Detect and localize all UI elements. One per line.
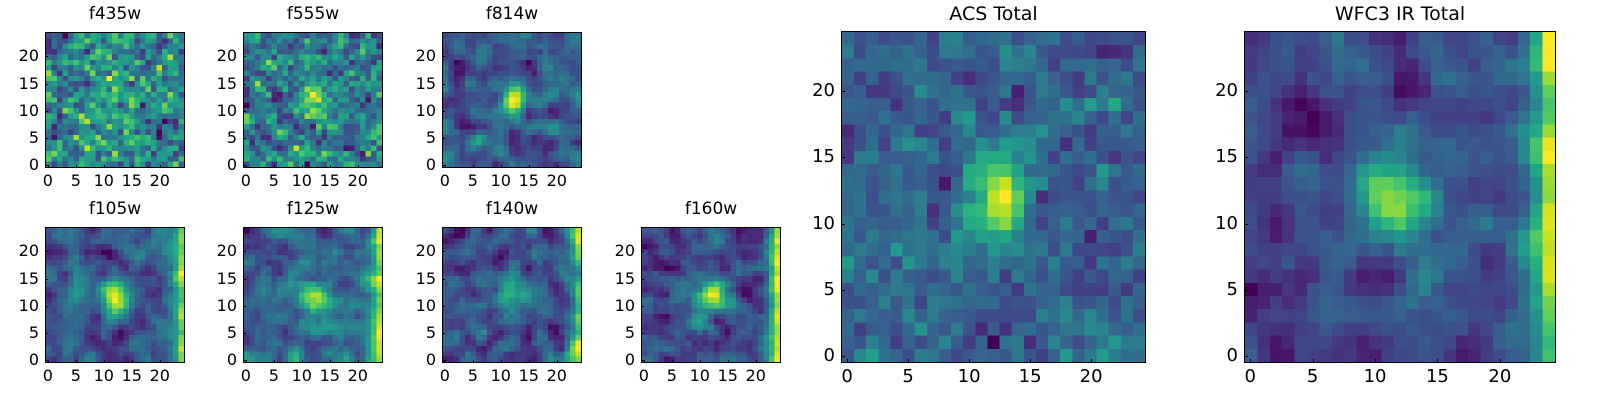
y-tick: [442, 360, 445, 361]
y-tick: [243, 333, 246, 334]
y-tick-label: 15: [812, 148, 835, 166]
x-tick: [501, 165, 502, 168]
x-tick: [501, 360, 502, 363]
y-tick: [45, 84, 48, 85]
panel-f105w: f105w0510152005101520: [45, 227, 185, 363]
x-tick: [274, 165, 275, 168]
x-tick: [847, 359, 848, 363]
x-tick-label: 10: [94, 173, 114, 189]
heatmap-canvas-f140w: [443, 228, 581, 362]
y-tick-label: 5: [625, 325, 635, 341]
x-tick-label: 20: [1488, 368, 1511, 386]
panel-f160w: f160w0510152005101520: [641, 227, 781, 363]
heatmap-canvas-f160w: [642, 228, 780, 362]
x-tick: [160, 165, 161, 168]
x-tick: [132, 165, 133, 168]
y-tick-label: 20: [615, 243, 635, 259]
heatmap-wfc3_ir_total: [1244, 31, 1556, 363]
x-tick-label: 10: [491, 173, 511, 189]
x-tick: [1500, 359, 1501, 363]
x-tick: [302, 360, 303, 363]
y-tick: [1244, 356, 1248, 357]
y-tick: [45, 165, 48, 166]
x-tick-label: 20: [348, 173, 368, 189]
y-tick-label: 0: [426, 352, 436, 368]
y-tick: [841, 91, 845, 92]
heatmap-canvas-wfc3_ir_total: [1245, 32, 1555, 362]
y-tick: [45, 360, 48, 361]
panel-f555w: f555w0510152005101520: [243, 32, 383, 168]
heatmap-f555w: [243, 32, 383, 168]
y-tick: [641, 360, 644, 361]
panel-title-f105w: f105w: [89, 199, 141, 219]
y-tick-label: 15: [19, 76, 39, 92]
y-tick: [841, 356, 845, 357]
y-tick-label: 15: [615, 271, 635, 287]
x-tick: [132, 360, 133, 363]
x-tick-label: 5: [71, 173, 81, 189]
y-tick-label: 5: [1227, 281, 1238, 299]
x-tick-label: 15: [1426, 368, 1449, 386]
y-tick-label: 10: [1215, 215, 1238, 233]
y-tick-label: 15: [217, 271, 237, 287]
x-tick: [160, 360, 161, 363]
panel-title-f555w: f555w: [287, 4, 339, 24]
y-tick: [442, 56, 445, 57]
heatmap-canvas-f125w: [244, 228, 382, 362]
heatmap-canvas-f555w: [244, 33, 382, 167]
y-tick: [442, 279, 445, 280]
y-tick-label: 5: [824, 281, 835, 299]
y-tick-label: 15: [416, 271, 436, 287]
y-tick-label: 0: [1227, 347, 1238, 365]
y-tick: [243, 56, 246, 57]
panel-f125w: f125w0510152005101520: [243, 227, 383, 363]
y-tick: [1244, 91, 1248, 92]
y-tick-label: 5: [227, 130, 237, 146]
y-tick-label: 5: [426, 325, 436, 341]
y-tick-label: 20: [19, 48, 39, 64]
y-tick: [442, 165, 445, 166]
y-tick-label: 10: [812, 215, 835, 233]
x-tick: [1250, 359, 1251, 363]
y-tick: [442, 138, 445, 139]
x-tick: [529, 165, 530, 168]
y-tick: [442, 333, 445, 334]
x-tick-label: 10: [292, 368, 312, 384]
x-tick-label: 15: [320, 368, 340, 384]
x-tick-label: 15: [718, 368, 738, 384]
x-tick: [104, 165, 105, 168]
panel-title-f435w: f435w: [89, 4, 141, 24]
x-tick: [473, 165, 474, 168]
y-tick: [243, 251, 246, 252]
heatmap-f160w: [641, 227, 781, 363]
x-tick: [700, 360, 701, 363]
x-tick-label: 5: [269, 368, 279, 384]
x-tick-label: 20: [746, 368, 766, 384]
x-tick: [969, 359, 970, 363]
x-tick-label: 5: [468, 368, 478, 384]
y-tick: [45, 138, 48, 139]
x-tick: [557, 360, 558, 363]
y-tick: [243, 111, 246, 112]
y-tick: [1244, 157, 1248, 158]
panel-title-wfc3_ir_total: WFC3 IR Total: [1335, 3, 1465, 25]
y-tick-label: 10: [19, 298, 39, 314]
y-tick-label: 10: [416, 298, 436, 314]
x-tick: [908, 359, 909, 363]
x-tick: [672, 360, 673, 363]
y-tick-label: 5: [29, 130, 39, 146]
y-tick-label: 10: [615, 298, 635, 314]
y-tick: [841, 224, 845, 225]
x-tick: [756, 360, 757, 363]
panel-title-acs_total: ACS Total: [949, 3, 1037, 25]
y-tick: [243, 138, 246, 139]
y-tick-label: 0: [426, 157, 436, 173]
y-tick-label: 0: [227, 157, 237, 173]
y-tick-label: 20: [217, 243, 237, 259]
heatmap-acs_total: [841, 31, 1146, 363]
y-tick: [841, 290, 845, 291]
panel-acs_total: ACS Total0510152005101520: [841, 31, 1146, 363]
x-tick-label: 15: [122, 173, 142, 189]
x-tick-label: 15: [519, 368, 539, 384]
x-tick-label: 0: [440, 173, 450, 189]
y-tick-label: 20: [1215, 82, 1238, 100]
x-tick-label: 10: [1364, 368, 1387, 386]
x-tick: [728, 360, 729, 363]
x-tick-label: 0: [241, 368, 251, 384]
y-tick-label: 20: [812, 82, 835, 100]
x-tick: [76, 360, 77, 363]
x-tick: [1030, 359, 1031, 363]
panel-f140w: f140w0510152005101520: [442, 227, 582, 363]
x-tick: [358, 165, 359, 168]
y-tick-label: 0: [29, 352, 39, 368]
x-tick-label: 0: [1245, 368, 1256, 386]
y-tick: [442, 251, 445, 252]
x-tick-label: 0: [440, 368, 450, 384]
y-tick-label: 15: [19, 271, 39, 287]
y-tick-label: 15: [1215, 148, 1238, 166]
x-tick: [302, 165, 303, 168]
y-tick: [243, 165, 246, 166]
x-tick-label: 5: [468, 173, 478, 189]
y-tick-label: 15: [416, 76, 436, 92]
heatmap-f105w: [45, 227, 185, 363]
y-tick: [45, 333, 48, 334]
x-tick: [529, 360, 530, 363]
x-tick-label: 0: [241, 173, 251, 189]
x-tick-label: 10: [292, 173, 312, 189]
y-tick-label: 10: [217, 103, 237, 119]
heatmap-f814w: [442, 32, 582, 168]
panel-f435w: f435w0510152005101520: [45, 32, 185, 168]
x-tick: [330, 360, 331, 363]
y-tick: [841, 157, 845, 158]
x-tick-label: 5: [667, 368, 677, 384]
y-tick: [243, 84, 246, 85]
x-tick-label: 0: [43, 368, 53, 384]
y-tick: [243, 279, 246, 280]
x-tick-label: 10: [94, 368, 114, 384]
heatmap-canvas-f814w: [443, 33, 581, 167]
x-tick-label: 10: [690, 368, 710, 384]
x-tick-label: 10: [958, 368, 981, 386]
y-tick: [45, 306, 48, 307]
heatmap-canvas-f435w: [46, 33, 184, 167]
x-tick: [104, 360, 105, 363]
panel-title-f160w: f160w: [685, 199, 737, 219]
heatmap-canvas-acs_total: [842, 32, 1145, 362]
x-tick: [1091, 359, 1092, 363]
y-tick-label: 20: [416, 48, 436, 64]
y-tick: [45, 279, 48, 280]
y-tick-label: 0: [824, 347, 835, 365]
x-tick: [1375, 359, 1376, 363]
y-tick: [45, 56, 48, 57]
x-tick-label: 20: [547, 173, 567, 189]
y-tick-label: 10: [217, 298, 237, 314]
x-tick-label: 5: [902, 368, 913, 386]
panel-f814w: f814w0510152005101520: [442, 32, 582, 168]
y-tick: [641, 279, 644, 280]
x-tick-label: 5: [269, 173, 279, 189]
x-tick: [557, 165, 558, 168]
x-tick: [473, 360, 474, 363]
y-tick-label: 5: [426, 130, 436, 146]
y-tick-label: 0: [29, 157, 39, 173]
y-tick: [641, 306, 644, 307]
x-tick-label: 10: [491, 368, 511, 384]
y-tick: [243, 360, 246, 361]
y-tick: [1244, 224, 1248, 225]
heatmap-f125w: [243, 227, 383, 363]
figure-canvas: f435w0510152005101520f555w05101520051015…: [0, 0, 1600, 400]
y-tick-label: 20: [217, 48, 237, 64]
x-tick-label: 20: [150, 173, 170, 189]
x-tick-label: 0: [639, 368, 649, 384]
x-tick: [274, 360, 275, 363]
x-tick-label: 20: [348, 368, 368, 384]
y-tick: [45, 251, 48, 252]
y-tick: [641, 251, 644, 252]
y-tick: [1244, 290, 1248, 291]
y-tick: [641, 333, 644, 334]
y-tick-label: 10: [416, 103, 436, 119]
panel-title-f814w: f814w: [486, 4, 538, 24]
x-tick-label: 5: [1307, 368, 1318, 386]
x-tick-label: 20: [1080, 368, 1103, 386]
y-tick: [442, 306, 445, 307]
heatmap-f140w: [442, 227, 582, 363]
y-tick-label: 10: [19, 103, 39, 119]
x-tick: [358, 360, 359, 363]
y-tick: [243, 306, 246, 307]
x-tick: [330, 165, 331, 168]
x-tick-label: 0: [43, 173, 53, 189]
y-tick: [442, 111, 445, 112]
y-tick-label: 5: [227, 325, 237, 341]
y-tick: [45, 111, 48, 112]
x-tick-label: 20: [150, 368, 170, 384]
y-tick-label: 15: [217, 76, 237, 92]
panel-wfc3_ir_total: WFC3 IR Total0510152005101520: [1244, 31, 1556, 363]
x-tick: [76, 165, 77, 168]
x-tick-label: 15: [1019, 368, 1042, 386]
y-tick-label: 5: [29, 325, 39, 341]
y-tick-label: 20: [19, 243, 39, 259]
x-tick-label: 5: [71, 368, 81, 384]
heatmap-f435w: [45, 32, 185, 168]
y-tick-label: 20: [416, 243, 436, 259]
panel-title-f125w: f125w: [287, 199, 339, 219]
x-tick-label: 0: [841, 368, 852, 386]
x-tick: [1313, 359, 1314, 363]
x-tick-label: 15: [122, 368, 142, 384]
x-tick-label: 15: [320, 173, 340, 189]
heatmap-canvas-f105w: [46, 228, 184, 362]
y-tick: [442, 84, 445, 85]
y-tick-label: 0: [625, 352, 635, 368]
x-tick-label: 15: [519, 173, 539, 189]
x-tick-label: 20: [547, 368, 567, 384]
y-tick-label: 0: [227, 352, 237, 368]
x-tick: [1437, 359, 1438, 363]
panel-title-f140w: f140w: [486, 199, 538, 219]
